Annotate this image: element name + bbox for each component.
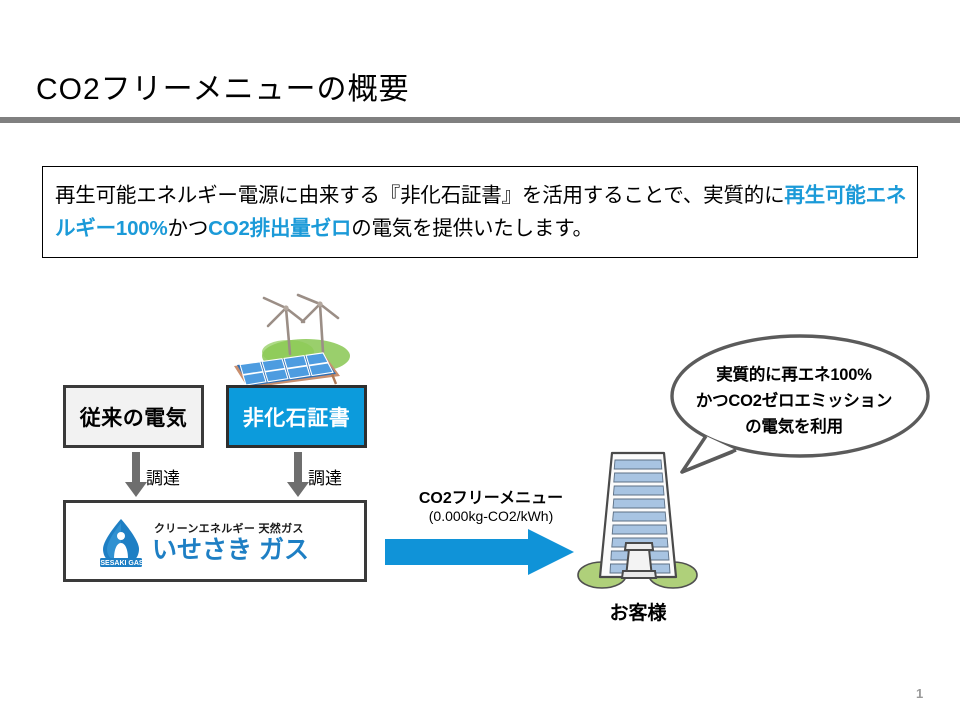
company-name: いせさき ガス	[152, 538, 309, 563]
arrow-right-icon	[385, 529, 575, 577]
lead-textbox: 再生可能エネルギー電源に由来する『非化石証書』を活用することで、実質的に再生可能…	[42, 166, 918, 258]
customer-label: お客様	[576, 598, 700, 625]
page-number: 1	[916, 686, 923, 701]
bubble-line-3: の電気を利用	[676, 414, 912, 440]
bubble-line-1: 実質的に再エネ100%	[676, 362, 912, 388]
page-title: CO2フリーメニューの概要	[36, 64, 409, 108]
renewable-energy-illustration	[228, 292, 370, 397]
box-company[interactable]: ISESAKI GAS クリーンエネルギー 天然ガス いせさき ガス	[63, 500, 367, 582]
lead-segment-1: 再生可能エネルギー電源に由来する『非化石証書』を活用することで、実質的に	[55, 184, 784, 207]
lead-segment-3: の電気を提供いたします。	[351, 217, 593, 240]
lead-paragraph: 再生可能エネルギー電源に由来する『非化石証書』を活用することで、実質的に再生可能…	[55, 179, 909, 245]
bubble-line-2: かつCO2ゼロエミッション	[676, 388, 912, 414]
box-conventional-electricity[interactable]: 従来の電気	[63, 385, 204, 448]
droplet-logo-icon: ISESAKI GAS	[98, 517, 144, 569]
box-nonfossil-certificate[interactable]: 非化石証書	[226, 385, 367, 448]
company-logo-text: クリーンエネルギー 天然ガス いせさき ガス	[152, 524, 309, 563]
company-logo: ISESAKI GAS クリーンエネルギー 天然ガス いせさき ガス	[98, 517, 309, 569]
isesaki-gas-logo-icon: ISESAKI GAS	[98, 517, 144, 569]
box-nonfossil-certificate-label: 非化石証書	[243, 402, 351, 432]
label-procure-certificate: 調達	[308, 464, 342, 489]
speech-bubble-text: 実質的に再エネ100% かつCO2ゼロエミッション の電気を利用	[676, 362, 912, 440]
arrow-procure-conventional	[124, 452, 148, 503]
company-tagline: クリーンエネルギー 天然ガス	[154, 524, 309, 535]
box-conventional-electricity-label: 従来の電気	[80, 402, 188, 432]
slide-canvas: CO2フリーメニューの概要 再生可能エネルギー電源に由来する『非化石証書』を活用…	[0, 0, 960, 720]
lead-highlight-2: CO2排出量ゼロ	[208, 217, 351, 240]
menu-emission-value: (0.000kg-CO2/kWh)	[398, 508, 584, 524]
arrow-supply-to-customer	[385, 529, 575, 582]
arrow-procure-certificate	[286, 452, 310, 503]
lead-segment-2: かつ	[168, 217, 209, 240]
logo-mark-text: ISESAKI GAS	[98, 560, 143, 567]
menu-caption: CO2フリーメニュー	[398, 484, 584, 508]
arrow-down-icon	[286, 452, 310, 498]
label-procure-conventional: 調達	[146, 464, 180, 489]
title-divider	[0, 117, 960, 123]
renewable-energy-icon	[228, 292, 370, 392]
arrow-down-icon	[124, 452, 148, 498]
